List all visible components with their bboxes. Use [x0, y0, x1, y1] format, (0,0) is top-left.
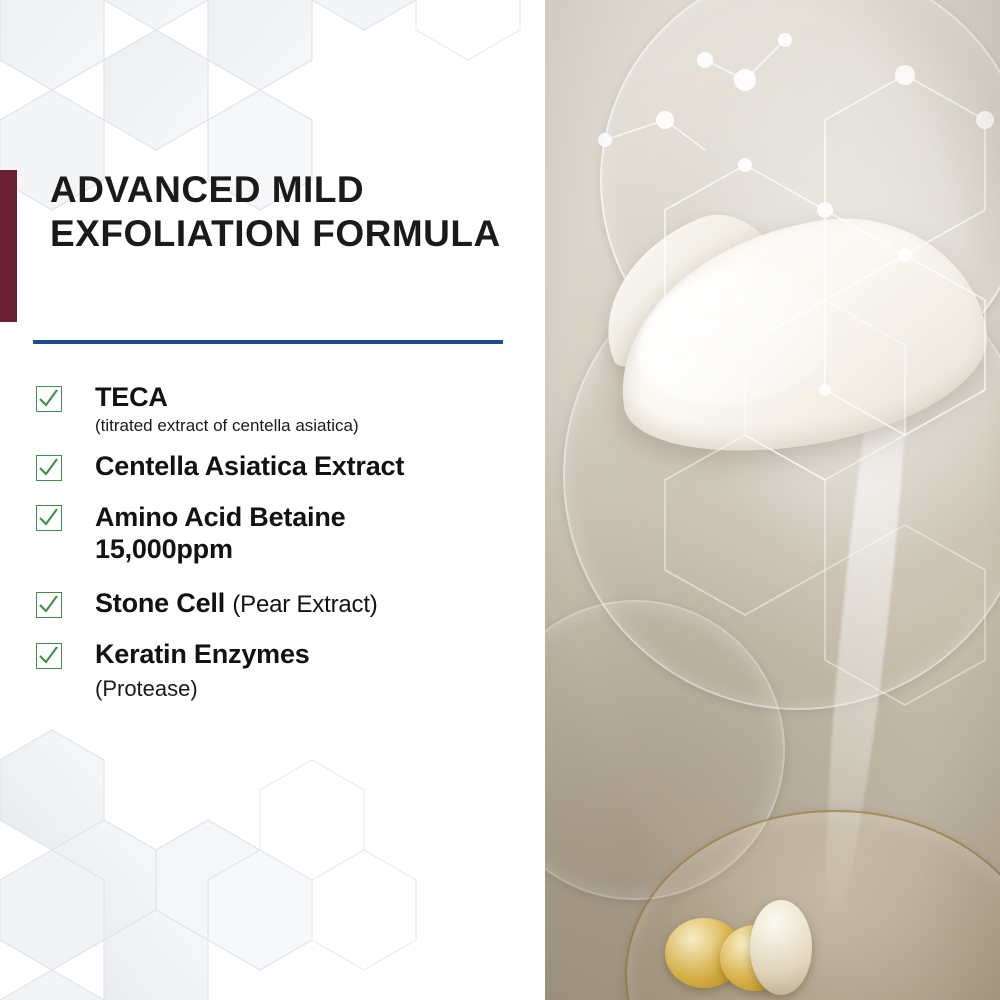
check-mark-icon: [36, 592, 62, 618]
ingredient-amount: 15,000ppm: [95, 533, 533, 565]
list-item: Centella Asiatica Extract: [33, 451, 533, 483]
product-photo: [545, 0, 1000, 1000]
check-mark-icon: [36, 643, 62, 669]
ingredient-name: Centella Asiatica Extract: [95, 451, 533, 483]
white-capsule: [750, 900, 812, 995]
ingredient-name: Amino Acid Betaine: [95, 501, 533, 533]
check-mark-icon: [36, 505, 62, 531]
accent-bar: [0, 170, 17, 322]
ingredient-note: (titrated extract of centella asiatica): [95, 415, 533, 437]
promo-graphic: ADVANCED MILD EXFOLIATION FORMULA TECA (…: [0, 0, 1000, 1000]
check-mark-icon: [36, 386, 62, 412]
check-mark-icon: [36, 455, 62, 481]
ingredient-name-text: Stone Cell: [95, 588, 225, 618]
list-item: Amino Acid Betaine 15,000ppm: [33, 501, 533, 566]
ingredient-name: TECA: [95, 382, 533, 414]
ingredient-name-text: Centella Asiatica Extract: [95, 451, 404, 481]
text-content: ADVANCED MILD EXFOLIATION FORMULA TECA (…: [0, 0, 545, 1000]
list-item: Stone Cell (Pear Extract): [33, 588, 533, 620]
ingredient-name: Keratin Enzymes: [95, 639, 533, 671]
ingredient-name-text: Amino Acid Betaine: [95, 502, 345, 532]
ingredient-inline-note: (Pear Extract): [232, 591, 377, 618]
title-divider: [33, 340, 503, 344]
ingredient-name: Stone Cell (Pear Extract): [95, 588, 533, 620]
ingredient-name-text: TECA: [95, 382, 168, 412]
page-title: ADVANCED MILD EXFOLIATION FORMULA: [50, 168, 520, 255]
ingredient-list: TECA (titrated extract of centella asiat…: [33, 382, 533, 718]
ingredient-note: (Protease): [95, 675, 533, 704]
list-item: TECA (titrated extract of centella asiat…: [33, 382, 533, 437]
ingredient-name-text: Keratin Enzymes: [95, 639, 310, 669]
list-item: Keratin Enzymes (Protease): [33, 639, 533, 703]
left-text-panel: ADVANCED MILD EXFOLIATION FORMULA TECA (…: [0, 0, 545, 1000]
